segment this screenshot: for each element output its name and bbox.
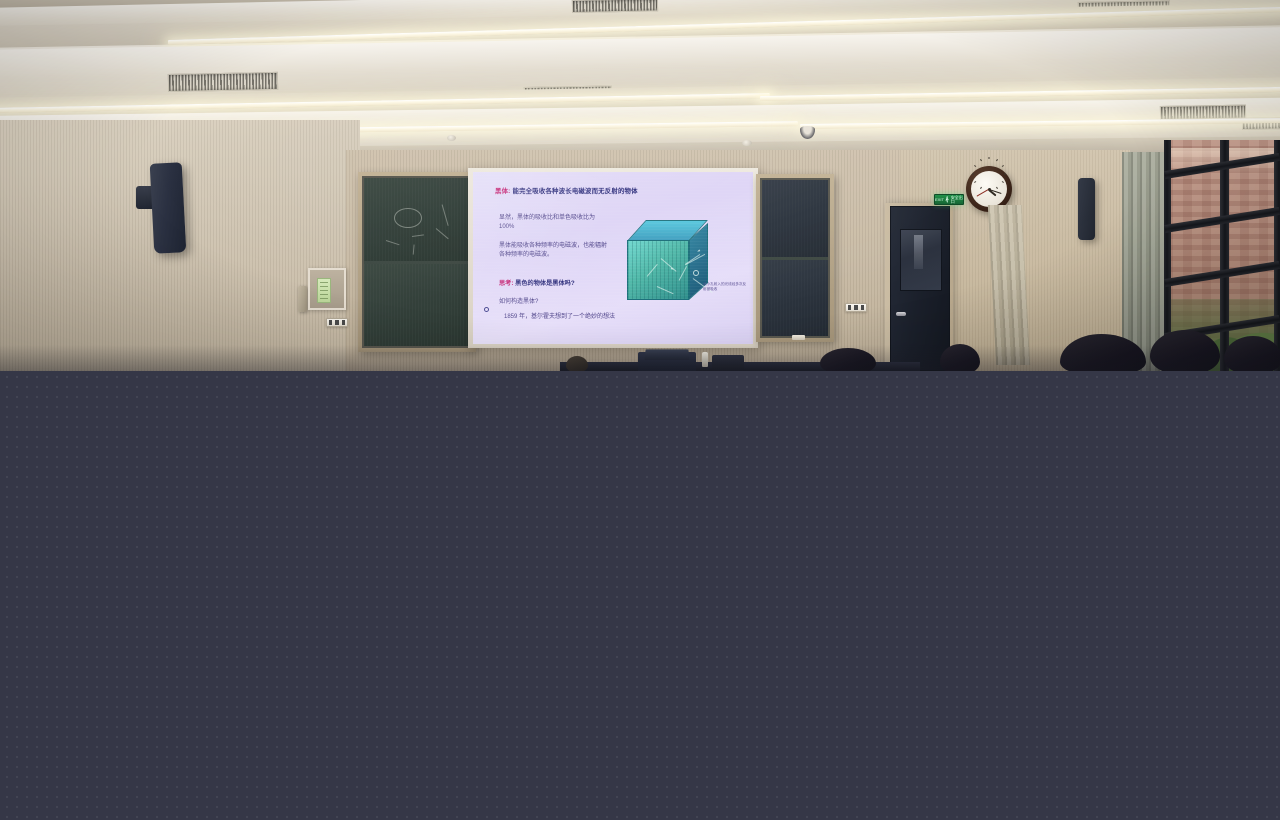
projection-screen[interactable]: 黑体: 能完全吸收各种波长电磁波而无反射的物体 显然，黑体的吸收比和单色吸收比为…: [473, 172, 753, 344]
exit-sign-label: EXIT: [935, 198, 944, 202]
chalk-mark: [436, 228, 449, 239]
clock-tick: [1002, 181, 1004, 183]
projection-screen-frame: 黑体: 能完全吸收各种波长电磁波而无反射的物体 显然，黑体的吸收比和单色吸收比为…: [468, 168, 758, 348]
slide-question-text: 黑色的物体是黑体吗?: [515, 280, 574, 287]
notice-board: [308, 268, 346, 310]
slide-title-keyword: 黑体:: [495, 188, 511, 195]
outlet-socket: [848, 305, 852, 310]
desk-object: [712, 355, 744, 370]
outlet-socket: [342, 320, 346, 325]
clock-center-pin: [988, 188, 991, 191]
blackbody-cube-figure: [627, 220, 711, 302]
clock-tick: [996, 187, 998, 189]
person: [1224, 336, 1280, 371]
door-handle[interactable]: [896, 312, 906, 316]
outlet-socket: [854, 305, 858, 310]
ceiling-fixture-3: [447, 135, 456, 141]
clock-tick: [980, 187, 982, 189]
blackboard-eraser[interactable]: [792, 335, 805, 340]
right-blackboard-surface: [760, 178, 830, 338]
clock-tick: [974, 181, 976, 183]
left-blackboard[interactable]: [358, 172, 476, 352]
blackboard-panel-lower: [762, 260, 828, 337]
window-mullion: [1274, 140, 1280, 371]
chalk-mark: [413, 245, 415, 255]
chalk-mark: [386, 240, 400, 245]
chalk-mark: [394, 208, 422, 228]
running-man-icon: [945, 196, 949, 203]
power-outlet-left[interactable]: [326, 318, 348, 327]
clock-tick: [972, 174, 974, 175]
left-wall-speaker: [150, 162, 187, 254]
chalk-mark: [441, 204, 448, 225]
cube-front-face: [627, 240, 689, 300]
slide-question-keyword: 思考:: [499, 280, 513, 287]
laptop[interactable]: [644, 349, 690, 360]
door-window: [900, 229, 942, 291]
wall-bracket: [298, 286, 307, 312]
classroom-photo: 黑体: 能完全吸收各种波长电磁波而无反射的物体 显然，黑体的吸收比和单色吸收比为…: [0, 0, 1280, 371]
person: [566, 356, 588, 371]
ceiling-vent-3: [168, 72, 278, 92]
outlet-socket: [861, 305, 865, 310]
water-bottle: [702, 352, 708, 367]
window-mullion: [1220, 140, 1229, 371]
chalk-mark: [412, 234, 424, 237]
slide-paragraph-1: 显然，黑体的吸收比和单色吸收比为100%: [499, 214, 607, 232]
slide-subline-2: 1859 年，基尔霍夫想到了一个绝妙的想法: [504, 311, 615, 320]
notice-paper: [317, 278, 331, 303]
classroom-door[interactable]: [890, 206, 950, 371]
outlet-socket: [329, 320, 333, 325]
slide-subline-1: 如何构造黑体?: [499, 296, 538, 305]
clock-tick: [1004, 174, 1006, 175]
blackboard-panel-upper: [762, 180, 828, 257]
left-blackboard-surface: [362, 176, 472, 348]
right-blackboard[interactable]: [756, 174, 834, 342]
cube-aperture-icon: [693, 270, 699, 276]
figure-caption: 从小孔射入的光线经多次反射被吸收: [703, 282, 749, 292]
clock-tick: [989, 157, 990, 159]
slide-title: 黑体: 能完全吸收各种波长电磁波而无反射的物体: [495, 186, 638, 195]
exit-sign: EXIT 安全出口: [934, 194, 964, 205]
slide-title-text: 能完全吸收各种波长电磁波而无反射的物体: [513, 188, 638, 195]
ceiling-vent-2: [572, 0, 658, 13]
door-frame: [885, 203, 953, 371]
ceiling-fixture-2: [742, 140, 752, 146]
outlet-socket: [335, 320, 339, 325]
blackboard-panel-upper: [364, 178, 470, 261]
power-outlet-right[interactable]: [845, 303, 867, 312]
slide-question: 思考: 黑色的物体是黑体吗?: [499, 278, 575, 287]
clock-face: [971, 171, 1007, 207]
blackboard-panel-lower: [364, 264, 470, 347]
right-wall-speaker: [1078, 178, 1095, 240]
circle-bullet-icon: [484, 307, 489, 312]
slide-paragraph-2: 黑体能吸收各种频率的电磁波，也能辐射各种频率的电磁波。: [499, 242, 607, 260]
exit-sign-sublabel: 安全出口: [951, 196, 963, 204]
ceiling-vent-6: [1160, 105, 1246, 120]
